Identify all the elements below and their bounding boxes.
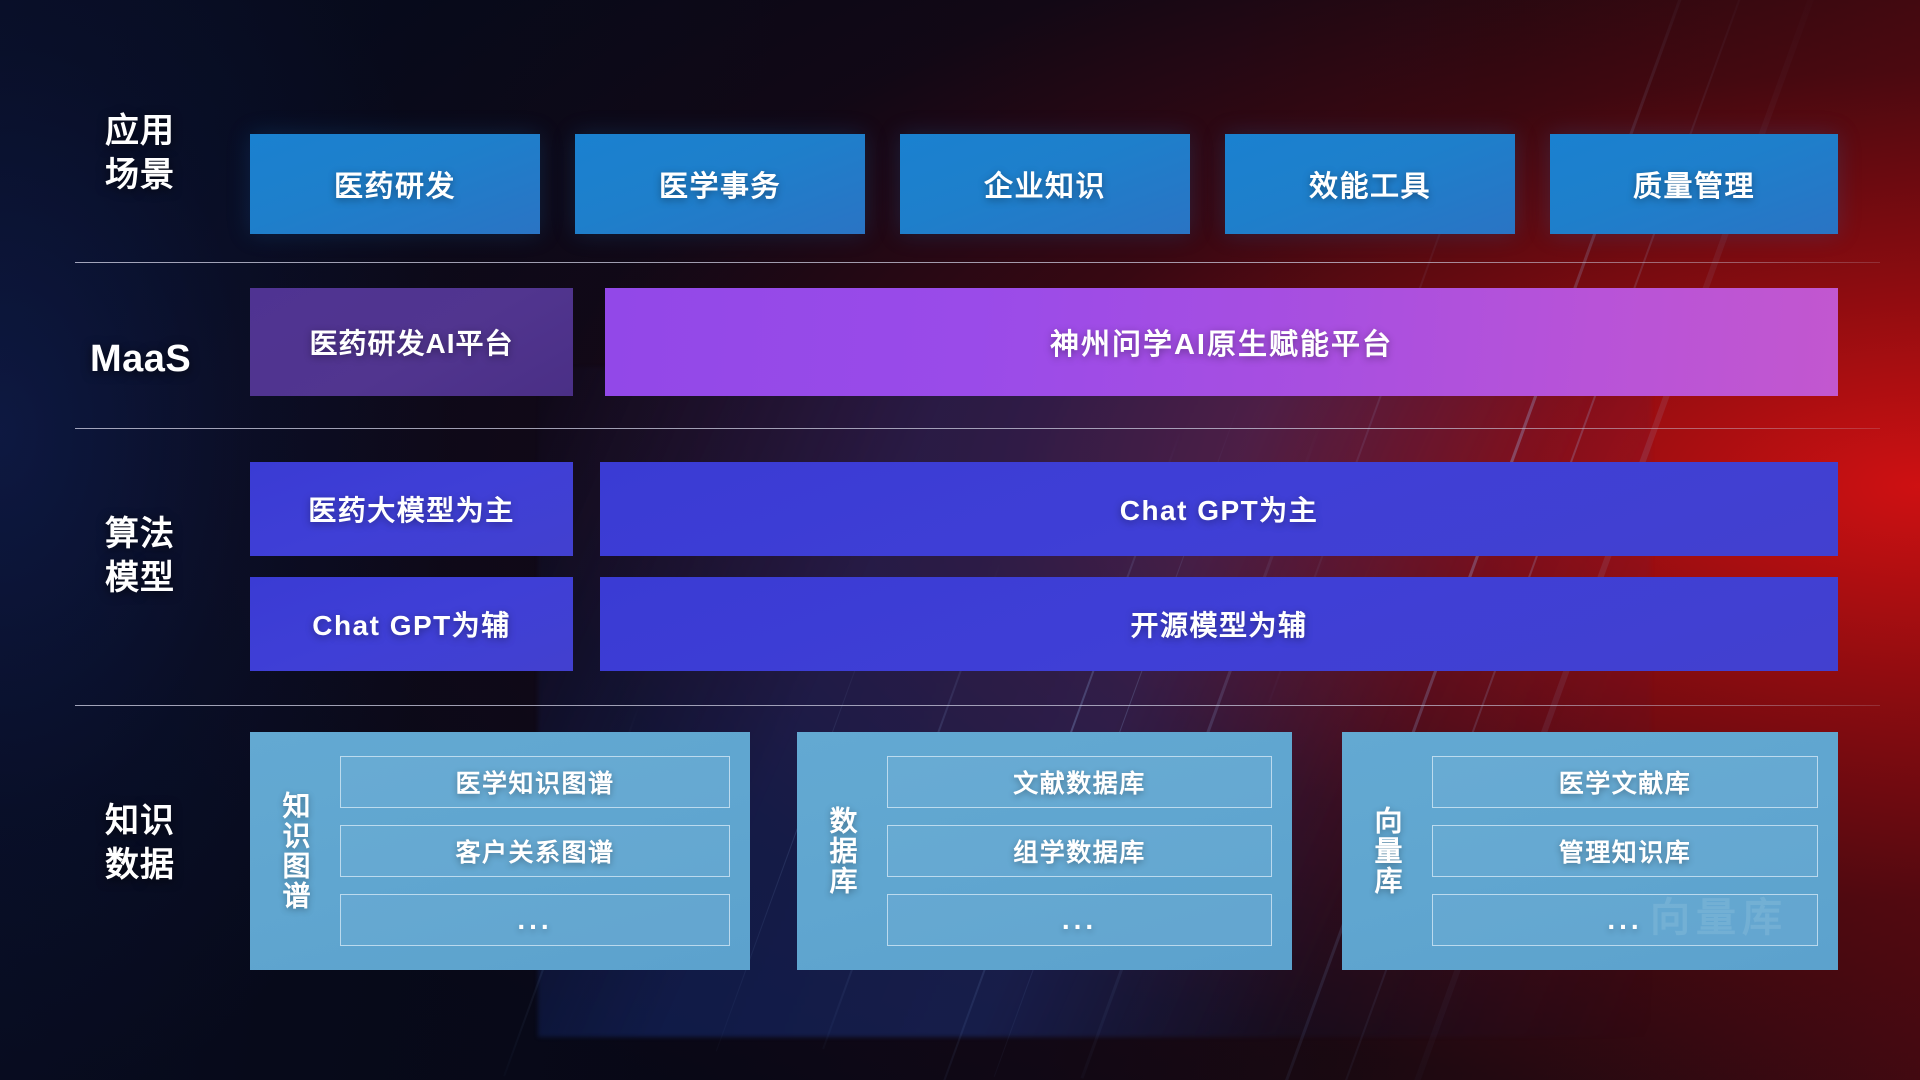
panel-item-list: 医学文献库 管理知识库 ... (1418, 746, 1822, 956)
model-card-label: Chat GPT为主 (1120, 489, 1319, 529)
data-panel-database[interactable]: 数据库 文献数据库 组学数据库 ... (797, 732, 1292, 970)
divider-after-scenarios (75, 262, 1880, 263)
divider-after-maas (75, 428, 1880, 429)
panel-item[interactable]: 组学数据库 (887, 825, 1272, 877)
row-label-maas: MaaS (90, 335, 260, 384)
panel-label-knowledge-graph: 知识图谱 (264, 746, 326, 956)
panel-item-more[interactable]: ... (1432, 894, 1818, 946)
panel-item-list: 医学知识图谱 客户关系图谱 ... (326, 746, 734, 956)
model-card-chatgpt-primary[interactable]: Chat GPT为主 (600, 462, 1838, 556)
scenario-card-label: 医学事务 (659, 163, 781, 205)
scenario-card-quality-management[interactable]: 质量管理 (1550, 134, 1838, 234)
panel-label-database: 数据库 (811, 746, 873, 956)
row-label-application-scenarios: 应用 场景 (105, 110, 255, 197)
scenario-card-efficiency-tools[interactable]: 效能工具 (1225, 134, 1515, 234)
model-card-label: Chat GPT为辅 (312, 604, 511, 644)
model-card-chatgpt-secondary[interactable]: Chat GPT为辅 (250, 577, 573, 671)
architecture-diagram: 应用 场景 医药研发 医学事务 企业知识 效能工具 质量管理 MaaS 医药研发… (0, 0, 1920, 1080)
maas-card-shenzhou-wenxue-platform[interactable]: 神州问学AI原生赋能平台 (605, 288, 1838, 396)
row-label-algorithm-model: 算法 模型 (105, 513, 255, 600)
scenario-card-medical-affairs[interactable]: 医学事务 (575, 134, 865, 234)
row-label-knowledge-data: 知识 数据 (105, 800, 255, 887)
panel-item-more[interactable]: ... (887, 894, 1272, 946)
model-card-label: 医药大模型为主 (308, 489, 515, 529)
panel-item[interactable]: 文献数据库 (887, 756, 1272, 808)
data-panel-vector-database[interactable]: 向量库 医学文献库 管理知识库 ... (1342, 732, 1838, 970)
panel-item-list: 文献数据库 组学数据库 ... (873, 746, 1276, 956)
scenario-card-label: 医药研发 (334, 163, 456, 205)
scenario-card-label: 效能工具 (1309, 163, 1431, 205)
model-card-pharma-llm-primary[interactable]: 医药大模型为主 (250, 462, 573, 556)
maas-card-label: 医药研发AI平台 (309, 322, 513, 362)
panel-item-more[interactable]: ... (340, 894, 730, 946)
panel-item[interactable]: 客户关系图谱 (340, 825, 730, 877)
model-card-opensource-secondary[interactable]: 开源模型为辅 (600, 577, 1838, 671)
scenario-card-enterprise-knowledge[interactable]: 企业知识 (900, 134, 1190, 234)
panel-item[interactable]: 医学知识图谱 (340, 756, 730, 808)
maas-card-drug-rd-ai-platform[interactable]: 医药研发AI平台 (250, 288, 573, 396)
scenario-card-label: 质量管理 (1633, 163, 1755, 205)
scenario-card-drug-rd[interactable]: 医药研发 (250, 134, 540, 234)
maas-card-label: 神州问学AI原生赋能平台 (1050, 321, 1393, 363)
data-panel-knowledge-graph[interactable]: 知识图谱 医学知识图谱 客户关系图谱 ... (250, 732, 750, 970)
panel-item[interactable]: 医学文献库 (1432, 756, 1818, 808)
panel-label-vector-database: 向量库 (1356, 746, 1418, 956)
scenario-card-label: 企业知识 (984, 163, 1106, 205)
divider-after-models (75, 705, 1880, 706)
model-card-label: 开源模型为辅 (1130, 604, 1307, 644)
panel-item[interactable]: 管理知识库 (1432, 825, 1818, 877)
